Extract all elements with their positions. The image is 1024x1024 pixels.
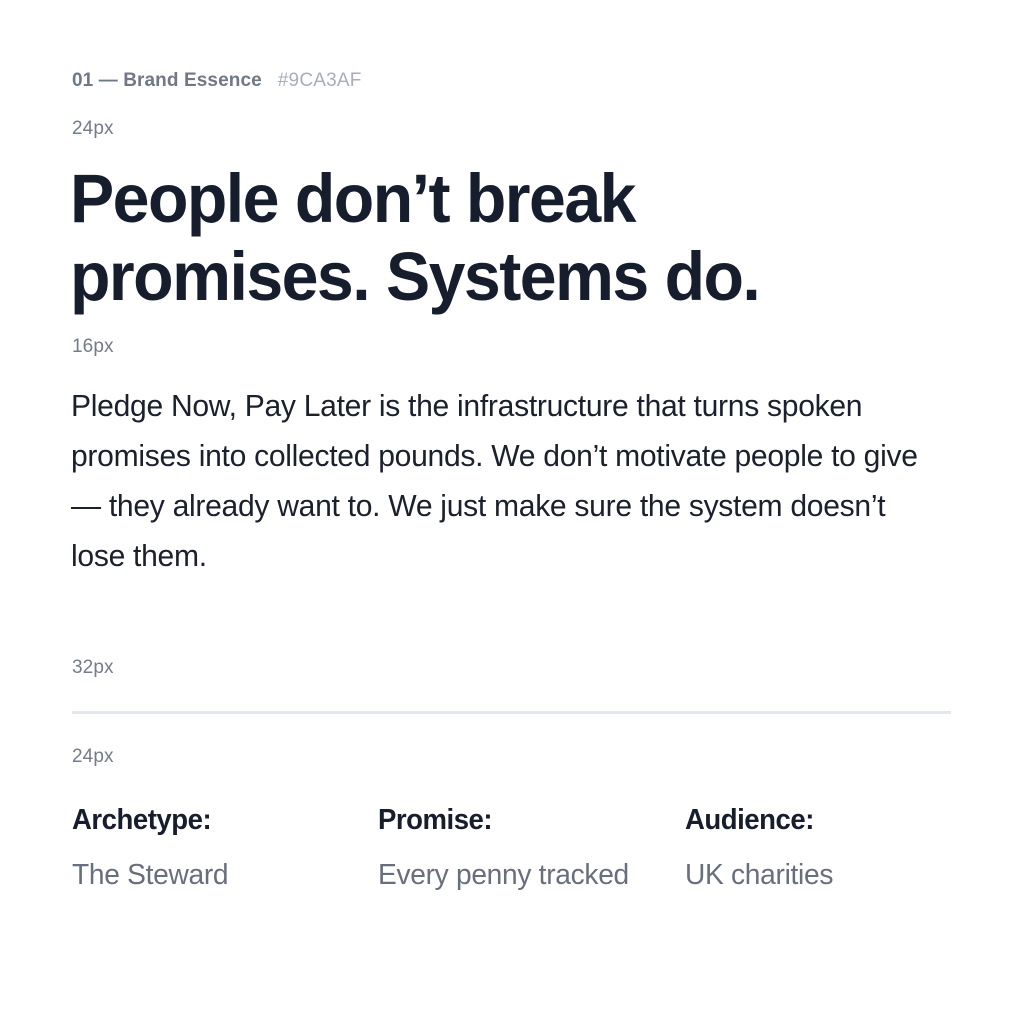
attribute-value: Every penny tracked — [378, 850, 649, 900]
attribute-key: Promise: — [378, 800, 643, 840]
brand-essence-slide: 01 — Brand Essence #9CA3AF 24px People d… — [0, 0, 1024, 1024]
attribute-column-promise: Promise: Every penny tracked — [378, 800, 685, 900]
size-label-gap: 32px — [72, 657, 114, 679]
attribute-value: The Steward — [72, 850, 342, 900]
page-title: People don’t break promises. Systems do. — [70, 160, 915, 316]
attribute-key: Archetype: — [72, 800, 336, 840]
size-label-attributes: 24px — [72, 746, 114, 768]
meta-header-row: 01 — Brand Essence #9CA3AF — [72, 70, 362, 92]
size-label-body: 16px — [72, 336, 114, 358]
section-divider — [72, 711, 951, 714]
attribute-column-archetype: Archetype: The Steward — [72, 800, 378, 900]
section-label: 01 — Brand Essence — [72, 70, 262, 92]
attribute-key: Audience: — [685, 800, 912, 840]
attribute-value: UK charities — [685, 850, 917, 900]
hex-color-label: #9CA3AF — [278, 70, 362, 92]
attribute-grid: Archetype: The Steward Promise: Every pe… — [72, 800, 952, 900]
size-label-headline: 24px — [72, 118, 114, 140]
attribute-column-audience: Audience: UK charities — [685, 800, 952, 900]
body-paragraph: Pledge Now, Pay Later is the infrastruct… — [71, 381, 934, 581]
